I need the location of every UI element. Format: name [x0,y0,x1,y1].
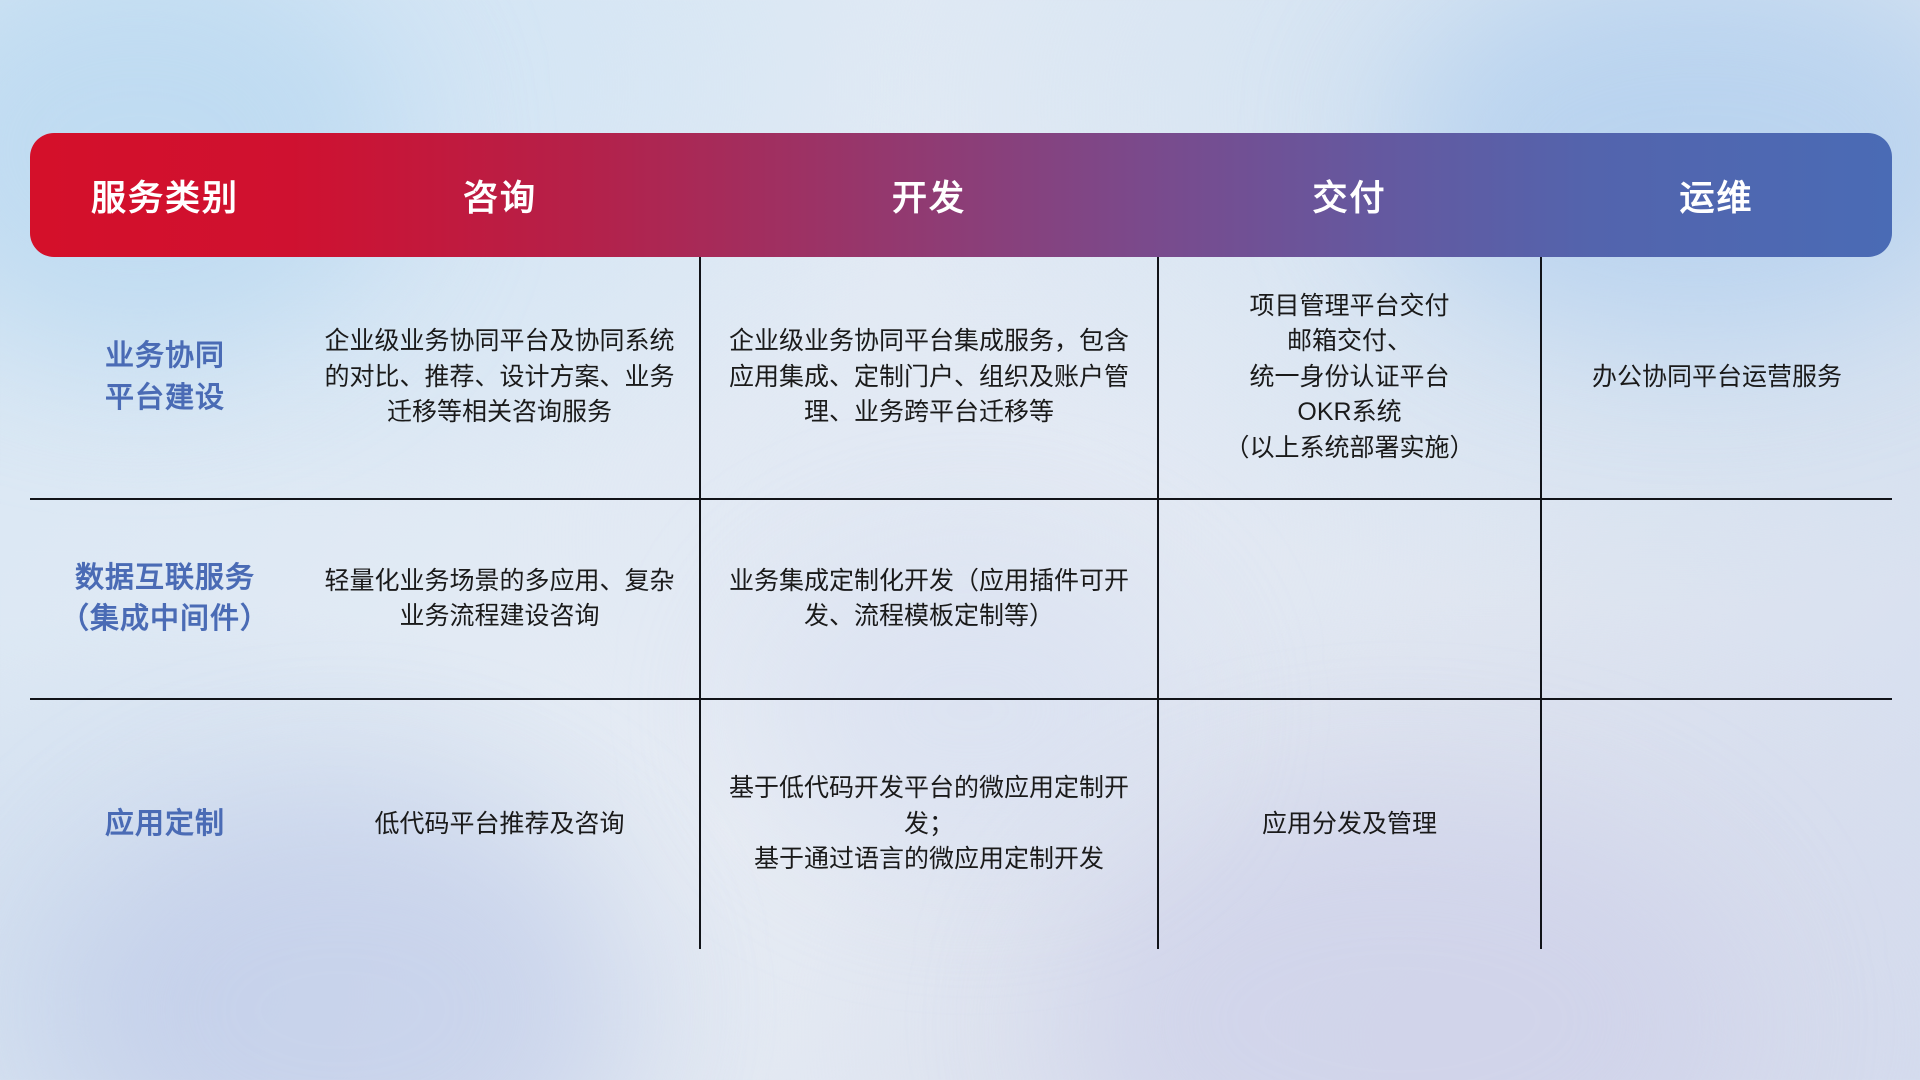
service-matrix-table: 服务类别 咨询 开发 交付 运维 业务协同平台建设 企业级业务协同平台及协同 [30,133,1892,949]
cell-development-row-1: 企业级业务协同平台集成服务，包含应用集成、定制门户、组织及账户管理、业务跨平台迁… [700,257,1158,499]
column-header-operations-label: 运维 [1679,179,1753,218]
column-header-category: 服务类别 [30,133,300,257]
table-header-row: 服务类别 咨询 开发 交付 运维 [30,133,1892,257]
cell-delivery-row-3: 应用分发及管理 [1158,699,1541,949]
cell-category-row-1: 业务协同平台建设 [30,257,300,499]
cell-development-row-3: 基于低代码开发平台的微应用定制开发；基于通过语言的微应用定制开发 [700,699,1158,949]
cell-consulting-row-1: 企业级业务协同平台及协同系统的对比、推荐、设计方案、业务迁移等相关咨询服务 [300,257,700,499]
table-body: 业务协同平台建设 企业级业务协同平台及协同系统的对比、推荐、设计方案、业务迁移等… [30,257,1892,949]
table-row: 应用定制 低代码平台推荐及咨询 基于低代码开发平台的微应用定制开发；基于通过语言… [30,699,1892,949]
column-header-operations: 运维 [1541,133,1892,257]
column-header-consulting-label: 咨询 [463,179,537,218]
table-header: 服务类别 咨询 开发 交付 运维 [30,133,1892,257]
cell-operations-row-1: 办公协同平台运营服务 [1541,257,1892,499]
cell-development-row-2: 业务集成定制化开发（应用插件可开发、流程模板定制等） [700,499,1158,699]
table-row: 业务协同平台建设 企业级业务协同平台及协同系统的对比、推荐、设计方案、业务迁移等… [30,257,1892,499]
column-header-delivery: 交付 [1158,133,1541,257]
cell-delivery-row-1: 项目管理平台交付邮箱交付、统一身份认证平台OKR系统（以上系统部署实施） [1158,257,1541,499]
cell-operations-row-2 [1541,499,1892,699]
cell-delivery-row-2 [1158,499,1541,699]
column-header-category-label: 服务类别 [91,179,239,218]
column-header-delivery-label: 交付 [1312,179,1386,218]
cell-consulting-row-2: 轻量化业务场景的多应用、复杂业务流程建设咨询 [300,499,700,699]
cell-operations-row-3 [1541,699,1892,949]
column-header-consulting: 咨询 [300,133,700,257]
cell-category-row-3: 应用定制 [30,699,300,949]
column-header-development: 开发 [700,133,1158,257]
table-row: 数据互联服务（集成中间件） 轻量化业务场景的多应用、复杂业务流程建设咨询 业务集… [30,499,1892,699]
cell-consulting-row-3: 低代码平台推荐及咨询 [300,699,700,949]
column-header-development-label: 开发 [892,179,966,218]
service-matrix-container: 服务类别 咨询 开发 交付 运维 业务协同平台建设 企业级业务协同平台及协同 [30,133,1892,951]
cell-category-row-2: 数据互联服务（集成中间件） [30,499,300,699]
